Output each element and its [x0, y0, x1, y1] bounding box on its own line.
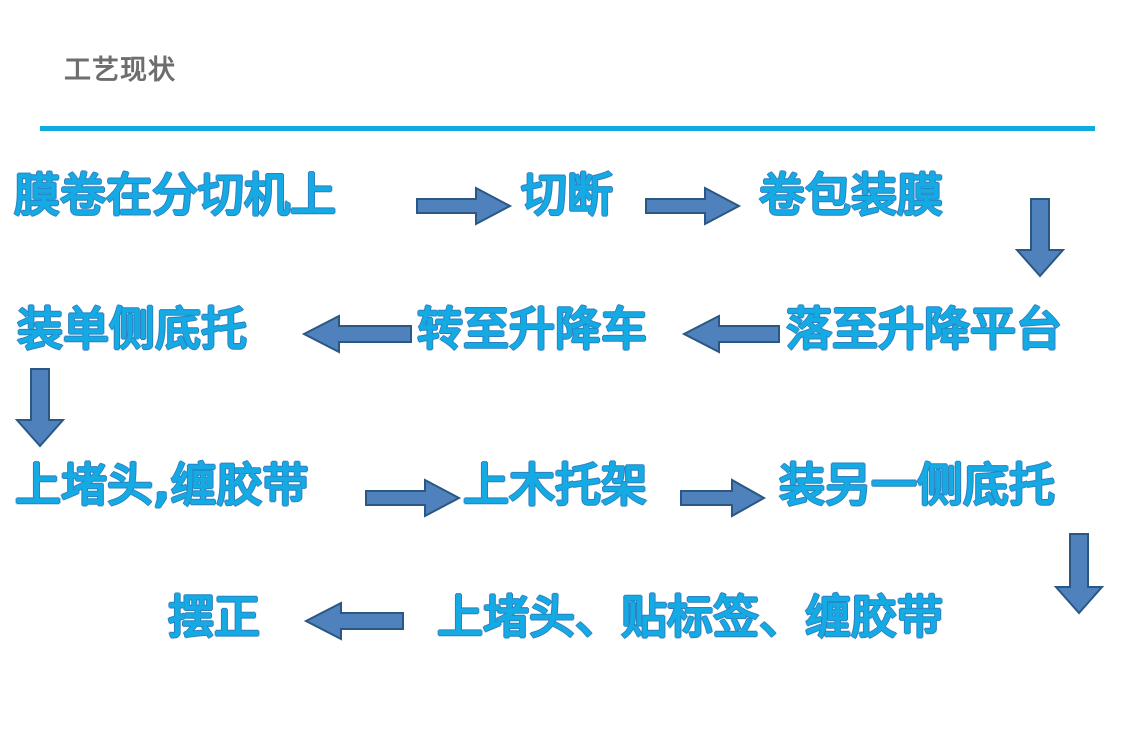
- arrow-right-icon: [416, 186, 512, 226]
- flow-node-install-wooden-bracket[interactable]: 上木托架: [463, 462, 647, 508]
- arrow-left-icon: [683, 313, 781, 355]
- arrow-down-icon: [14, 368, 66, 448]
- arrow-right-icon: [645, 186, 741, 226]
- arrow-right-icon: [680, 478, 766, 518]
- slide-canvas: 工艺现状 膜卷在分切机上 切断 卷包装膜 装单侧底托 转至升降车 落至升降平台: [0, 0, 1134, 756]
- arrow-left-icon: [303, 313, 413, 355]
- flow-node-plug-head-label-tape[interactable]: 上堵头、贴标签、缠胶带: [437, 594, 943, 640]
- flow-node-lower-to-lift-platform[interactable]: 落至升降平台: [786, 306, 1062, 352]
- flow-node-straighten[interactable]: 摆正: [168, 594, 260, 640]
- arrow-right-icon: [365, 478, 461, 518]
- flow-node-install-other-side-pallet[interactable]: 装另一侧底托: [779, 462, 1055, 508]
- flow-node-cut-off[interactable]: 切断: [521, 172, 613, 218]
- arrow-left-icon: [305, 600, 405, 642]
- flow-node-install-one-side-pallet[interactable]: 装单侧底托: [17, 306, 247, 352]
- flow-node-transfer-to-lift-truck[interactable]: 转至升降车: [417, 306, 647, 352]
- arrow-down-icon: [1014, 198, 1066, 278]
- page-title: 工艺现状: [64, 55, 176, 87]
- flow-node-film-roll-on-slitter[interactable]: 膜卷在分切机上: [14, 172, 336, 218]
- arrow-down-icon: [1053, 533, 1105, 615]
- flow-node-plug-head-wrap-tape[interactable]: 上堵头,缠胶带: [15, 462, 308, 508]
- title-divider: [40, 126, 1095, 131]
- flow-node-wrap-packaging-film[interactable]: 卷包装膜: [759, 172, 943, 218]
